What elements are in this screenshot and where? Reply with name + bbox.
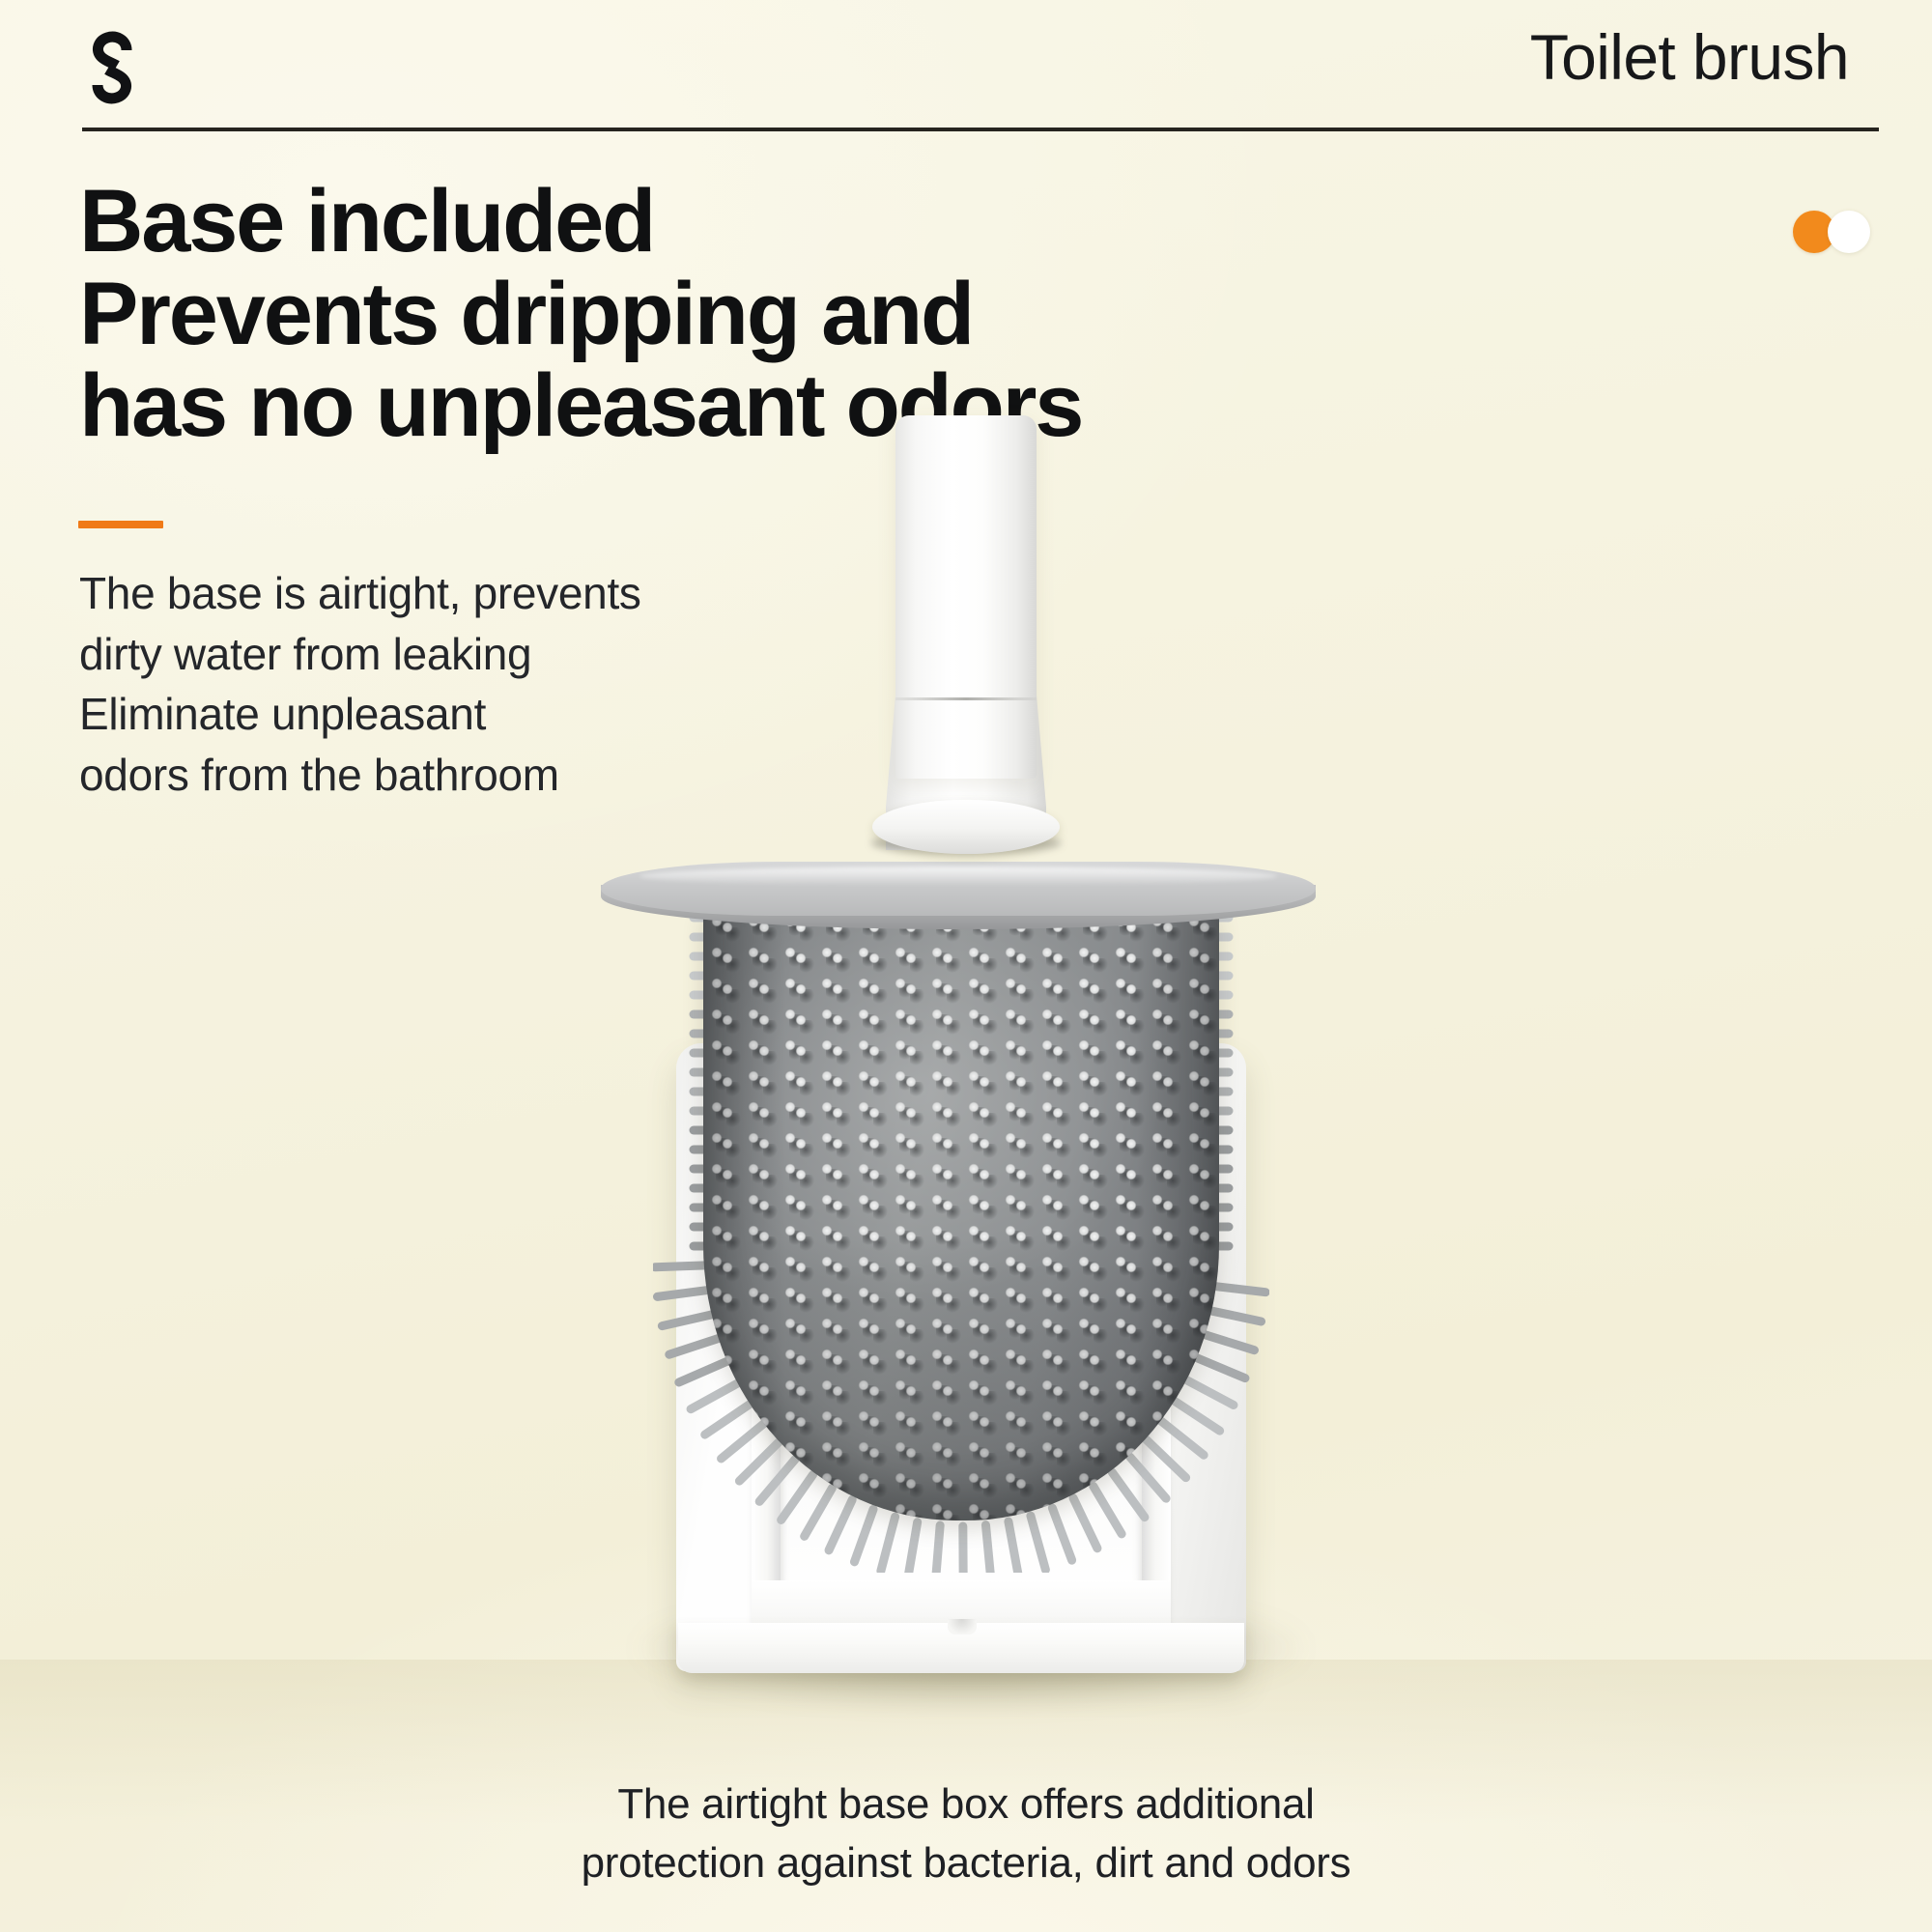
headline: Base included Prevents dripping and has … bbox=[79, 176, 1383, 453]
s-monogram-logo-icon bbox=[81, 29, 143, 106]
caption-line-1: The airtight base box offers additional bbox=[0, 1776, 1932, 1834]
page-title: Toilet brush bbox=[1530, 25, 1849, 89]
pagination-dot-inactive[interactable] bbox=[1828, 211, 1870, 253]
brush-bristle-nubs-offset bbox=[722, 922, 1219, 1520]
brush-silicone-pad bbox=[703, 906, 1219, 1520]
caption: The airtight base box offers additional … bbox=[0, 1776, 1932, 1892]
headline-line-1: Base included bbox=[79, 176, 1383, 269]
product-image bbox=[618, 502, 1314, 1739]
headline-line-3: has no unpleasant odors bbox=[79, 360, 1383, 453]
infographic-page: Toilet brush Base included Prevents drip… bbox=[0, 0, 1932, 1932]
accent-dash bbox=[78, 521, 163, 528]
base-box-notch bbox=[948, 1619, 977, 1634]
brush-head bbox=[678, 906, 1244, 1551]
brush-handle-shaft bbox=[895, 415, 1037, 779]
brush-handle bbox=[886, 415, 1046, 885]
brush-handle-seam bbox=[895, 697, 1037, 700]
header-divider bbox=[82, 128, 1879, 131]
brush-handle-foot bbox=[872, 800, 1060, 854]
pagination-indicator[interactable] bbox=[1793, 209, 1882, 255]
headline-line-2: Prevents dripping and bbox=[79, 269, 1383, 361]
caption-line-2: protection against bacteria, dirt and od… bbox=[0, 1834, 1932, 1893]
